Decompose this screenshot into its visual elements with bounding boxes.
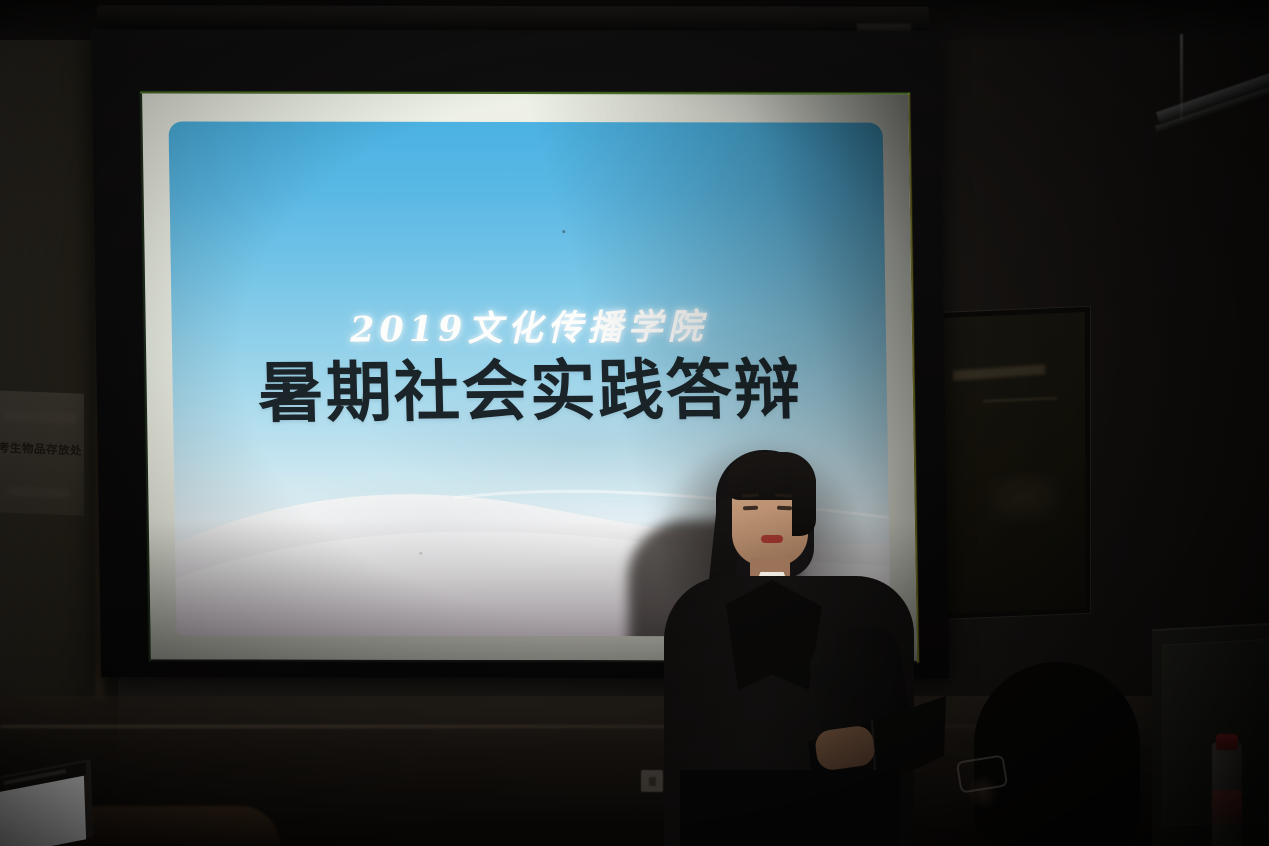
audience-head-silhouette <box>974 662 1140 846</box>
dust-speck <box>419 552 422 555</box>
wall-sign: 考生物品存放处 <box>0 390 84 515</box>
laptop <box>0 768 114 846</box>
wall-sign-blur-top <box>4 411 76 424</box>
presenter-eye-left <box>743 506 758 511</box>
wall-sign-label: 考生物品存放处 <box>0 442 82 458</box>
wall-sign-blur-bottom <box>8 487 70 498</box>
board-underline <box>983 397 1057 402</box>
bottle-label <box>1212 790 1242 824</box>
dust-speck <box>562 230 565 233</box>
framed-notice-board <box>934 307 1090 620</box>
audience-member <box>952 662 1212 846</box>
board-smudge <box>989 473 1059 522</box>
slide-text-block: 2019文化传播学院 暑期社会实践答辩 <box>171 309 887 429</box>
slide-subtitle: 2019文化传播学院 <box>171 307 886 352</box>
bottle-cap <box>1216 734 1238 750</box>
presenter-eye-right <box>777 506 792 511</box>
photo-scene: 考生物品存放处 <box>0 0 1269 846</box>
presenter-lips <box>761 535 783 543</box>
presenter-lower-torso <box>680 770 900 846</box>
presenter-hair-side <box>792 464 816 536</box>
presenter <box>620 440 950 846</box>
board-handwriting <box>953 364 1045 380</box>
slide-title: 暑期社会实践答辩 <box>172 352 888 431</box>
